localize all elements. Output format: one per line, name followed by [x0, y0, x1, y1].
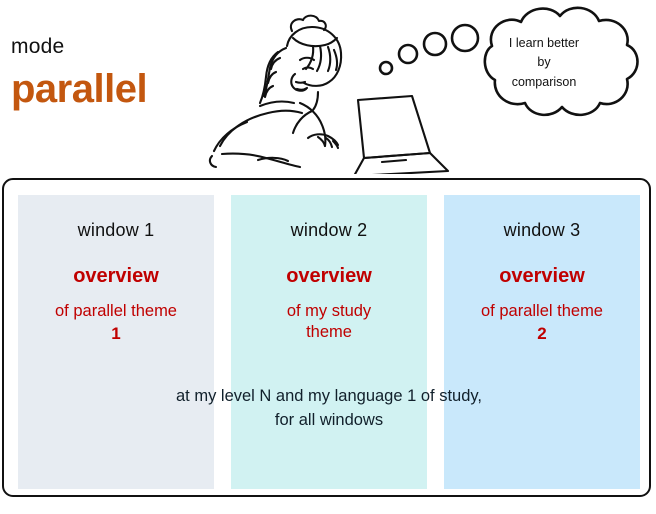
window-panel-1[interactable]: window 1 overview of parallel theme 1	[18, 195, 214, 489]
window-2-subtitle-line-2: theme	[235, 322, 423, 343]
thought-bubble-line-3: comparison	[480, 73, 608, 92]
mode-label: mode	[11, 36, 64, 57]
windows-container: window 1 overview of parallel theme 1 wi…	[2, 178, 651, 497]
window-1-subtitle: of parallel theme	[18, 301, 214, 322]
window-2-overview-label: overview	[231, 264, 427, 288]
window-1-theme-number: 1	[18, 323, 214, 345]
window-panel-3[interactable]: window 3 overview of parallel theme 2	[444, 195, 640, 489]
thought-dot-4	[452, 25, 478, 51]
thought-bubble-line-1: I learn better	[480, 34, 608, 53]
window-1-overview-label: overview	[18, 264, 214, 288]
window-2-subtitle-line-1: of my study	[235, 301, 423, 322]
thought-dot-2	[399, 45, 417, 63]
mode-name-parallel: parallel	[11, 67, 147, 111]
thought-dot-1	[380, 62, 392, 74]
thought-bubble-text: I learn better by comparison	[480, 34, 608, 92]
thought-dot-3	[424, 33, 446, 55]
window-panel-2[interactable]: window 2 overview of my study theme	[231, 195, 427, 489]
window-3-subtitle: of parallel theme	[444, 301, 640, 322]
window-3-overview-label: overview	[444, 264, 640, 288]
window-2-title: window 2	[231, 220, 427, 242]
window-panels-row: window 1 overview of parallel theme 1 wi…	[18, 195, 640, 489]
window-1-title: window 1	[18, 220, 214, 242]
window-3-theme-number: 2	[444, 323, 640, 345]
thought-bubble-line-2: by	[480, 53, 608, 72]
window-3-title: window 3	[444, 220, 640, 242]
header-area: mode parallel	[0, 0, 656, 178]
window-2-subtitle: of my study theme	[231, 301, 427, 343]
